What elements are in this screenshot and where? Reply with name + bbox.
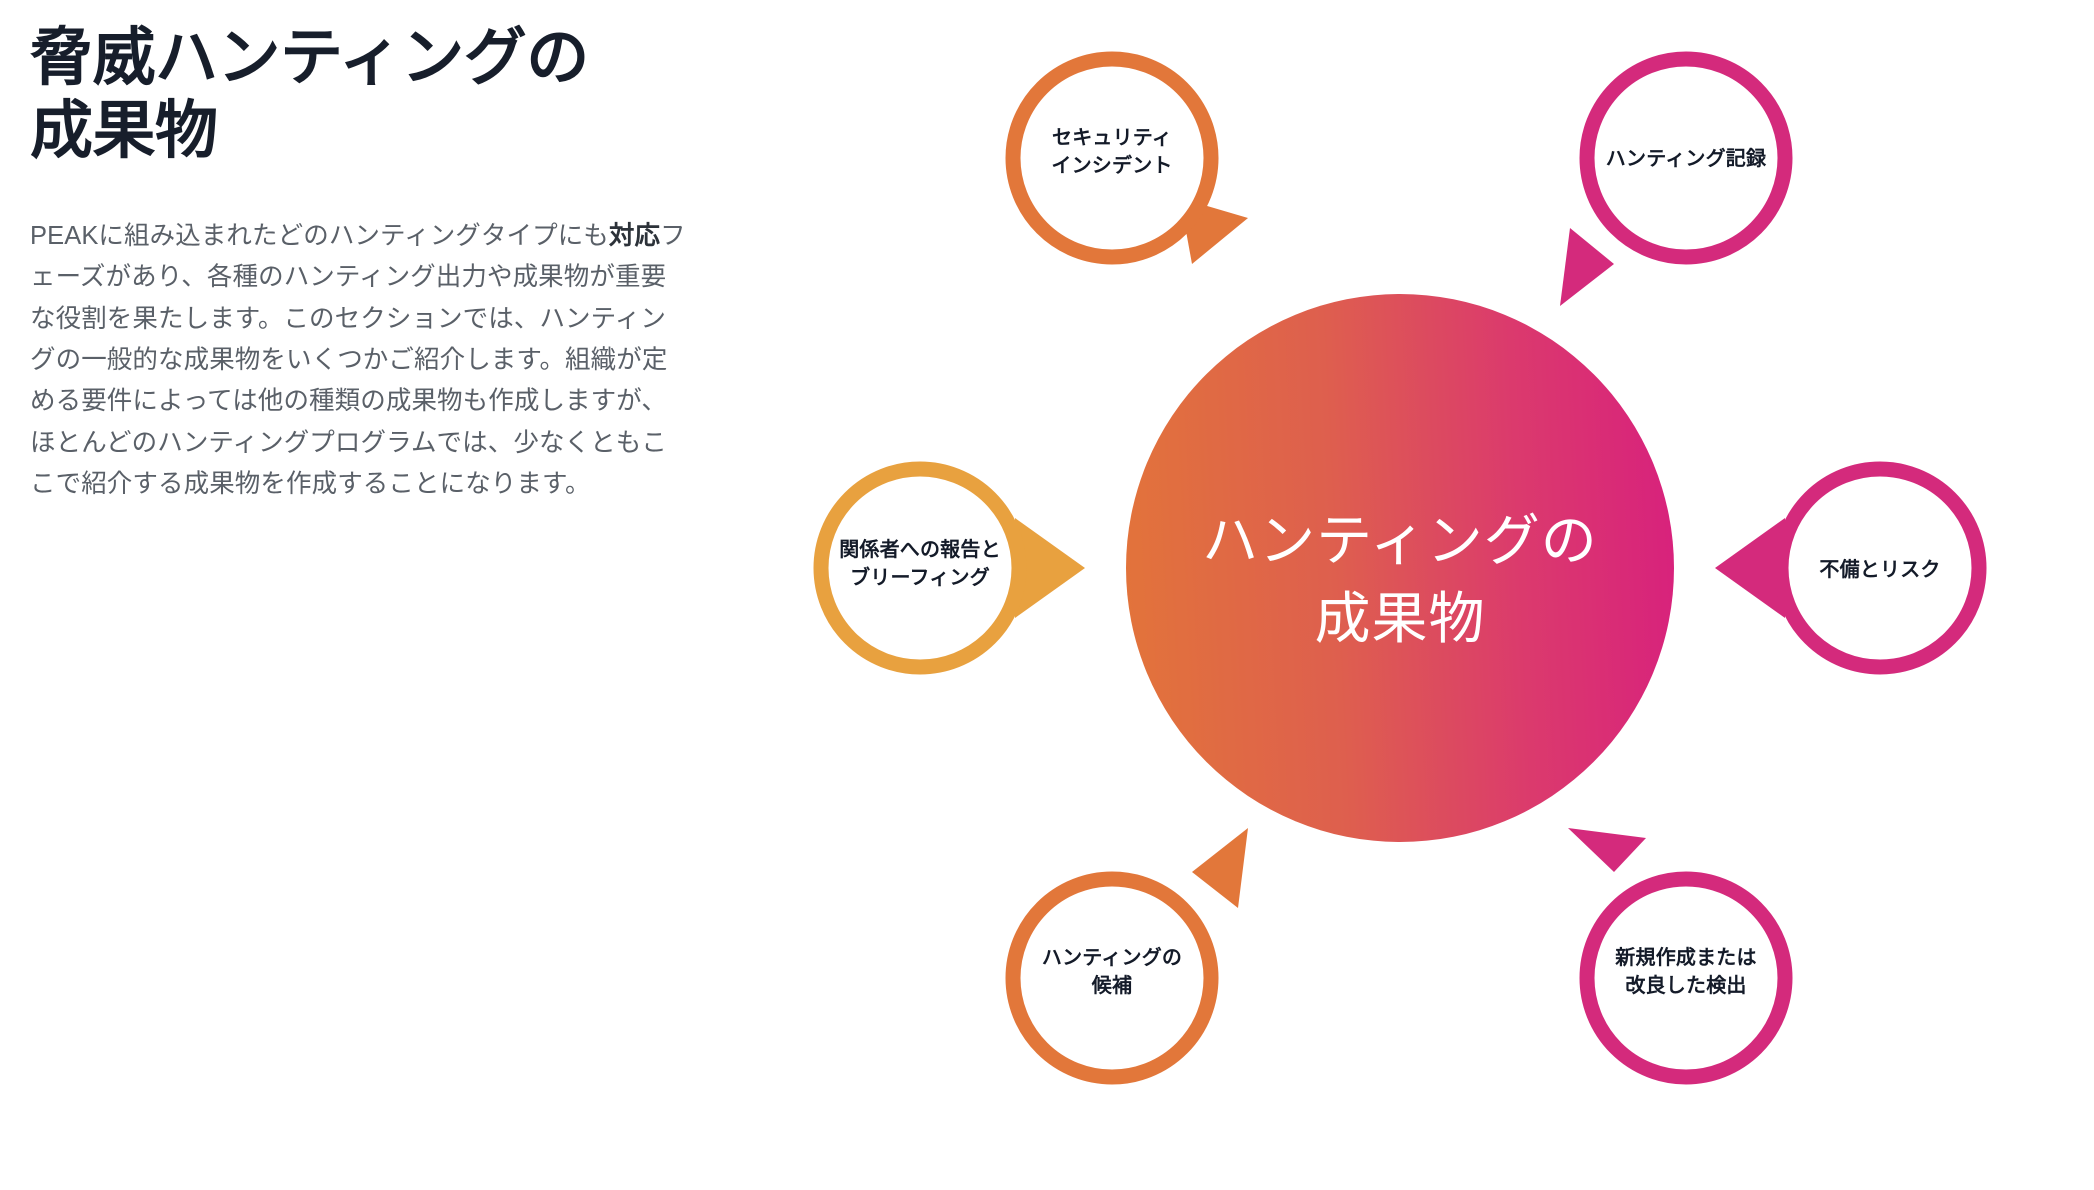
hunting-outputs-diagram: ハンティングの 成果物 セキュリティ インシデント ハンティング記録 不備とリス [740,0,2094,1190]
node-hunting-candidates[interactable]: ハンティングの 候補 [1013,828,1248,1077]
node-security-incident-label-line1: セキュリティ [1052,127,1172,149]
node-new-or-improved-detections-tail [1568,828,1646,872]
body-part-1: PEAKに組み込まれたどのハンティングタイプにも [30,222,609,250]
node-hunting-record-label: ハンティング記録 [1606,146,1767,170]
body-part-2: フェーズがあり、各種のハンティング出力や成果物が重要な役割を果たします。このセク… [30,222,686,498]
node-stakeholder-reporting[interactable]: 関係者への報告と ブリーフィング [821,469,1085,667]
node-hunting-candidates-label-line1: ハンティングの [1042,945,1182,969]
node-new-or-improved-detections[interactable]: 新規作成または 改良した検出 [1568,828,1785,1077]
page-title: 脅威ハンティングの 成果物 [30,22,690,168]
node-hunting-candidates-tail [1192,828,1248,908]
node-new-or-improved-detections-label-line2: 改良した検出 [1625,973,1746,997]
hub-label-line1: ハンティングの [1202,509,1598,572]
body-paragraph: PEAKに組み込まれたどのハンティングタイプにも対応フェーズがあり、各種のハンテ… [30,216,690,505]
node-hunting-record-tail [1560,228,1614,306]
node-hunting-record[interactable]: ハンティング記録 [1560,59,1785,306]
node-gaps-and-risks-label: 不備とリスク [1819,557,1940,581]
body-emphasis: 対応 [609,222,660,250]
node-gaps-and-risks[interactable]: 不備とリスク [1715,469,1979,667]
node-new-or-improved-detections-label-line1: 新規作成または [1614,945,1756,969]
hub-node: ハンティングの 成果物 [1126,294,1674,842]
node-security-incident[interactable]: セキュリティ インシデント [1013,59,1248,264]
node-security-incident-label-line2: インシデント [1051,153,1172,177]
node-stakeholder-reporting-label-line2: ブリーフィング [850,565,990,589]
node-stakeholder-reporting-label-line1: 関係者への報告と [839,537,1001,561]
hub-label-line2: 成果物 [1315,587,1486,650]
slide-root: 脅威ハンティングの 成果物 PEAKに組み込まれたどのハンティングタイプにも対応… [0,0,2094,1190]
node-hunting-candidates-label-line2: 候補 [1091,974,1132,997]
left-text-column: 脅威ハンティングの 成果物 PEAKに組み込まれたどのハンティングタイプにも対応… [30,22,690,505]
